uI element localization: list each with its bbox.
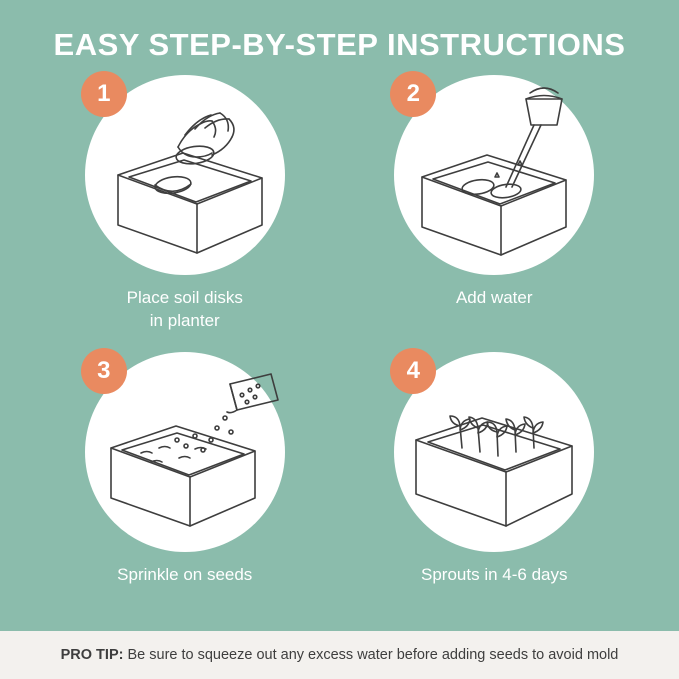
step-3-number: 3 xyxy=(81,348,127,394)
step-2-caption: Add water xyxy=(456,287,533,310)
step-4-caption: Sprouts in 4-6 days xyxy=(421,564,567,587)
pro-tip-text: PRO TIP: Be sure to squeeze out any exce… xyxy=(61,647,619,663)
page-title: EASY STEP-BY-STEP INSTRUCTIONS xyxy=(0,27,679,63)
instructions-poster: EASY STEP-BY-STEP INSTRUCTIONS xyxy=(0,0,679,679)
pro-tip-bar: PRO TIP: Be sure to squeeze out any exce… xyxy=(0,631,679,679)
steps-grid: 1 Place soil disks in planter xyxy=(0,63,679,631)
step-2-illustration: 2 xyxy=(394,75,594,275)
step-4-illustration: 4 xyxy=(394,352,594,552)
step-1-caption: Place soil disks in planter xyxy=(127,287,243,333)
step-2: 2 Add water xyxy=(340,69,650,350)
step-2-number: 2 xyxy=(390,71,436,117)
step-4: 4 Sprouts in 4-6 days xyxy=(340,350,650,631)
step-1: 1 Place soil disks in planter xyxy=(30,69,340,350)
step-1-caption-line2: in planter xyxy=(150,311,220,330)
step-3-illustration: 3 xyxy=(85,352,285,552)
step-1-number: 1 xyxy=(81,71,127,117)
pro-tip-body: Be sure to squeeze out any excess water … xyxy=(127,647,618,663)
step-4-number: 4 xyxy=(390,348,436,394)
step-1-illustration: 1 xyxy=(85,75,285,275)
pro-tip-label: PRO TIP: xyxy=(61,647,124,663)
step-3-caption: Sprinkle on seeds xyxy=(117,564,252,587)
step-3: 3 Sprinkle on seeds xyxy=(30,350,340,631)
step-1-caption-line1: Place soil disks xyxy=(127,288,243,307)
